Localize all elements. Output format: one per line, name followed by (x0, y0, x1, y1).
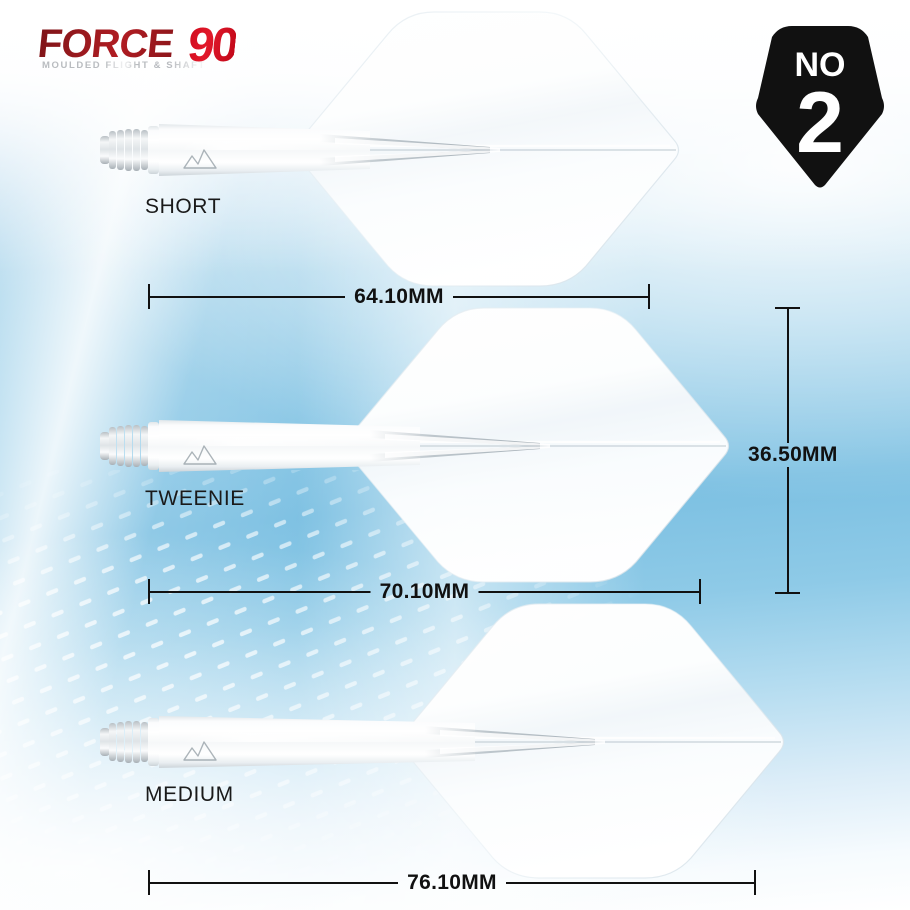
dimension-length-medium: 76.10MM (148, 870, 756, 896)
dimension-cap-left (148, 579, 150, 604)
dimension-flight-height-value: 36.50MM (748, 443, 838, 467)
dart-assembly-tweenie (70, 296, 810, 596)
size-label-medium: MEDIUM (145, 783, 234, 807)
size-label-tweenie: TWEENIE (145, 487, 245, 511)
dimension-value: 64.10MM (345, 284, 453, 309)
brand-tagline: MOULDED FLIGHT & SHAFT (42, 60, 206, 71)
dimension-value: 70.10MM (371, 579, 479, 604)
dimension-cap-left (148, 284, 150, 309)
dimension-cap-right (699, 579, 701, 604)
dimension-value: 76.10MM (398, 870, 506, 895)
dimension-cap-bottom (775, 592, 800, 594)
dart-assembly-medium (70, 592, 870, 902)
no2-badge: NO 2 (755, 24, 885, 189)
dimension-cap-top (775, 307, 800, 309)
brand-logo: FORCE 90 MOULDED FLIGHT & SHAFT (38, 24, 298, 82)
dimension-cap-right (648, 284, 650, 309)
brand-name-force: FORCE (36, 24, 175, 64)
dimension-length-short: 64.10MM (148, 284, 650, 310)
badge-number: 2 (796, 75, 844, 171)
dimension-cap-right (754, 870, 756, 895)
size-label-short: SHORT (145, 195, 221, 219)
dimension-length-tweenie: 70.10MM (148, 579, 701, 605)
product-spec-image: SHORT (0, 0, 910, 910)
dimension-cap-left (148, 870, 150, 895)
